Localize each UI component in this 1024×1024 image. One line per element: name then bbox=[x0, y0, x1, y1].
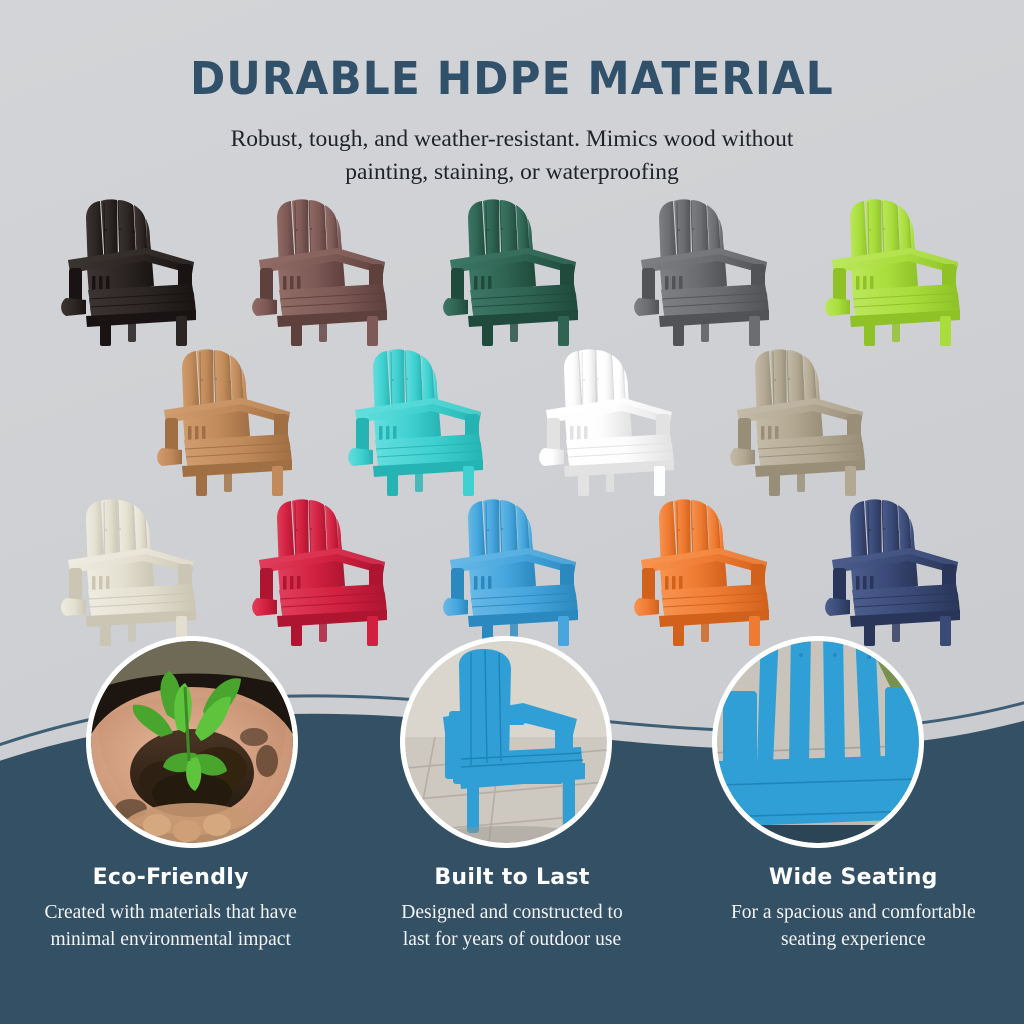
blue-adirondack-chair-on-patio-photo bbox=[405, 641, 607, 843]
feature-description: Designed and constructed to last for yea… bbox=[355, 899, 668, 953]
chair-swatch-teak-tan[interactable] bbox=[138, 340, 314, 496]
page-subtitle: Robust, tough, and weather-resistant. Mi… bbox=[152, 123, 872, 189]
chair-swatch-white[interactable] bbox=[520, 340, 696, 496]
adirondack-chair-ivory-cream bbox=[42, 490, 218, 646]
feature-wide-seating: Wide Seating For a spacious and comforta… bbox=[683, 865, 1024, 953]
feature-desc-line-1: Created with materials that have bbox=[45, 902, 297, 923]
chair-swatch-ivory-cream[interactable] bbox=[42, 490, 218, 646]
chair-swatch-gray[interactable] bbox=[615, 190, 791, 346]
adirondack-chair-orange bbox=[615, 490, 791, 646]
chair-swatch-navy-blue[interactable] bbox=[806, 490, 982, 646]
feature-photo-eco-friendly bbox=[86, 636, 298, 848]
chair-swatch-sky-blue[interactable] bbox=[424, 490, 600, 646]
chair-swatch-turquoise[interactable] bbox=[329, 340, 505, 496]
feature-title: Wide Seating bbox=[697, 865, 1010, 890]
feature-built-to-last: Built to Last Designed and constructed t… bbox=[341, 865, 682, 953]
feature-desc-line-1: For a spacious and comfortable bbox=[731, 902, 976, 923]
adirondack-chair-black bbox=[42, 190, 218, 346]
feature-title: Built to Last bbox=[355, 865, 668, 890]
adirondack-chair-turquoise bbox=[329, 340, 505, 496]
chair-swatch-red[interactable] bbox=[233, 490, 409, 646]
adirondack-chair-teak-tan bbox=[138, 340, 314, 496]
feature-photo-circles bbox=[0, 636, 1024, 856]
subtitle-line-2: painting, staining, or waterproofing bbox=[345, 159, 679, 185]
chair-swatch-taupe-beige[interactable] bbox=[711, 340, 887, 496]
feature-desc-line-2: seating experience bbox=[781, 929, 926, 950]
adirondack-chair-dark-green bbox=[424, 190, 600, 346]
adirondack-chair-sky-blue bbox=[424, 490, 600, 646]
feature-description: Created with materials that have minimal… bbox=[14, 899, 327, 953]
adirondack-chair-red bbox=[233, 490, 409, 646]
adirondack-chair-lime-green bbox=[806, 190, 982, 346]
page-title: DURABLE HDPE MATERIAL bbox=[31, 52, 994, 105]
blue-chair-wide-seat-closeup-photo bbox=[717, 641, 919, 843]
feature-caption-row: Eco-Friendly Created with materials that… bbox=[0, 865, 1024, 953]
adirondack-chair-brown bbox=[233, 190, 409, 346]
chair-swatch-lime-green[interactable] bbox=[806, 190, 982, 346]
feature-title: Eco-Friendly bbox=[14, 865, 327, 890]
chair-color-grid bbox=[0, 190, 1024, 646]
chair-swatch-orange[interactable] bbox=[615, 490, 791, 646]
subtitle-line-1: Robust, tough, and weather-resistant. Mi… bbox=[231, 126, 794, 152]
adirondack-chair-white bbox=[520, 340, 696, 496]
infographic-page: DURABLE HDPE MATERIAL Robust, tough, and… bbox=[0, 0, 1024, 1024]
chair-row-2 bbox=[0, 340, 1024, 496]
chair-swatch-brown[interactable] bbox=[233, 190, 409, 346]
feature-desc-line-2: minimal environmental impact bbox=[50, 929, 290, 950]
chair-swatch-dark-green[interactable] bbox=[424, 190, 600, 346]
chair-swatch-black[interactable] bbox=[42, 190, 218, 346]
adirondack-chair-navy-blue bbox=[806, 490, 982, 646]
feature-description: For a spacious and comfortable seating e… bbox=[697, 899, 1010, 953]
chair-row-3 bbox=[0, 490, 1024, 646]
chair-row-1 bbox=[0, 190, 1024, 346]
adirondack-chair-gray bbox=[615, 190, 791, 346]
feature-desc-line-1: Designed and constructed to bbox=[401, 902, 622, 923]
feature-photo-wide-seating bbox=[712, 636, 924, 848]
feature-eco-friendly: Eco-Friendly Created with materials that… bbox=[0, 865, 341, 953]
feature-desc-line-2: last for years of outdoor use bbox=[403, 929, 621, 950]
adirondack-chair-taupe-beige bbox=[711, 340, 887, 496]
feature-photo-built-to-last bbox=[400, 636, 612, 848]
hands-holding-seedling-soil-photo bbox=[91, 641, 293, 843]
